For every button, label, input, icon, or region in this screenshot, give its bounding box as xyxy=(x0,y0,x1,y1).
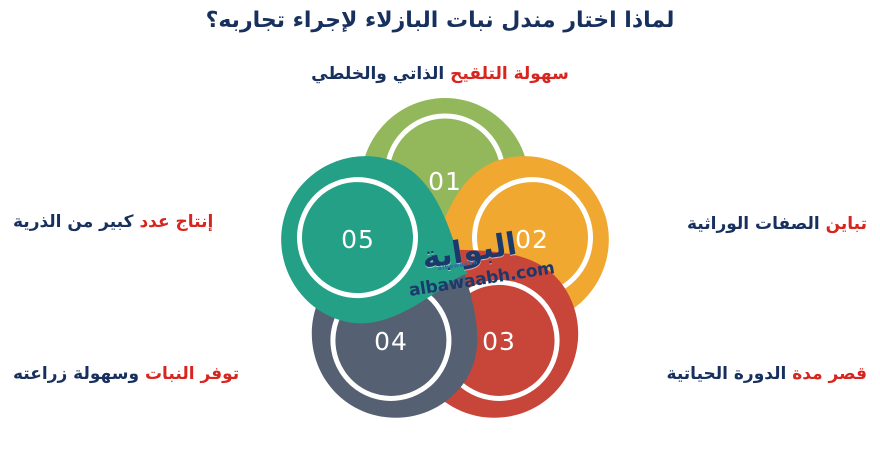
pin-04-label-rest: وسهولة زراعته xyxy=(13,364,139,384)
pin-02-label: تباين الصفات الوراثية xyxy=(687,214,867,235)
pin-03-label: قصر مدة الدورة الحياتية xyxy=(667,364,867,385)
pin-03-label-rest: الدورة الحياتية xyxy=(667,364,787,384)
pin-04-number: 04 xyxy=(374,327,408,356)
pin-01-label: سهولة التلقيح الذاتي والخلطي xyxy=(0,64,880,85)
pin-03-number: 03 xyxy=(482,327,516,356)
page-title: لماذا اختار مندل نبات البازلاء لإجراء تج… xyxy=(0,8,880,33)
pin-01-number: 01 xyxy=(428,167,462,196)
pin-04-label-highlight: توفر النبات xyxy=(145,364,239,384)
pin-02-label-highlight: تباين xyxy=(826,214,867,234)
pin-02-label-rest: الصفات الوراثية xyxy=(687,214,820,234)
pin-01-label-highlight: سهولة التلقيح xyxy=(450,64,569,84)
infographic-canvas: لماذا اختار مندل نبات البازلاء لإجراء تج… xyxy=(0,0,880,455)
pin-wheel: 01 02 03 04 05 xyxy=(285,98,605,428)
pin-01-label-rest: الذاتي والخلطي xyxy=(311,64,444,84)
pin-04-label: توفر النبات وسهولة زراعته xyxy=(13,364,239,385)
pin-wheel-svg: 01 02 03 04 05 xyxy=(285,98,605,428)
pin-03-label-highlight: قصر مدة xyxy=(792,364,867,384)
pin-05-label: إنتاج عدد كبير من الذرية xyxy=(13,212,213,233)
pin-05-number: 05 xyxy=(341,225,375,254)
pin-05-label-highlight: إنتاج عدد xyxy=(139,212,213,232)
pin-05-label-rest: كبير من الذرية xyxy=(13,212,134,232)
pin-02-number: 02 xyxy=(515,225,549,254)
